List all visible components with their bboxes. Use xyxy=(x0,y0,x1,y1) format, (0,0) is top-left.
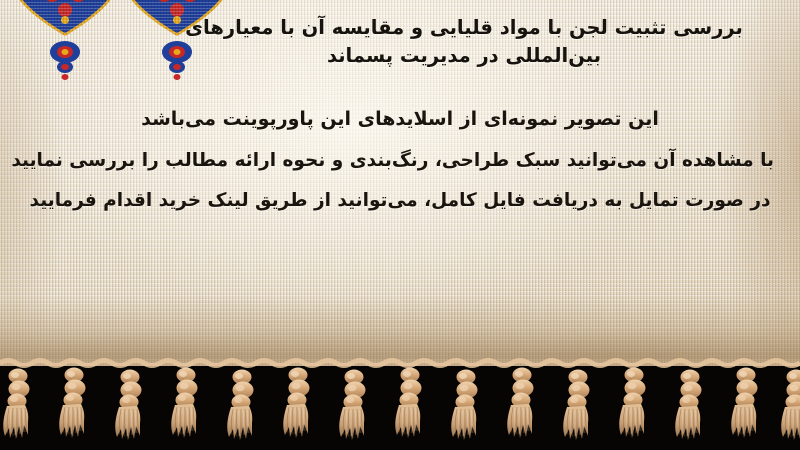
medallion-pendant xyxy=(162,41,192,80)
slide-canvas: بررسی تثبیت لجن با مواد قلیایی و مقایسه … xyxy=(0,0,800,450)
carpet-tassel-fringe xyxy=(0,352,800,450)
persian-carpet-medallion-icon-right xyxy=(118,0,236,80)
persian-carpet-medallion-icon-left xyxy=(6,0,124,80)
medallion-pendant xyxy=(50,41,80,80)
